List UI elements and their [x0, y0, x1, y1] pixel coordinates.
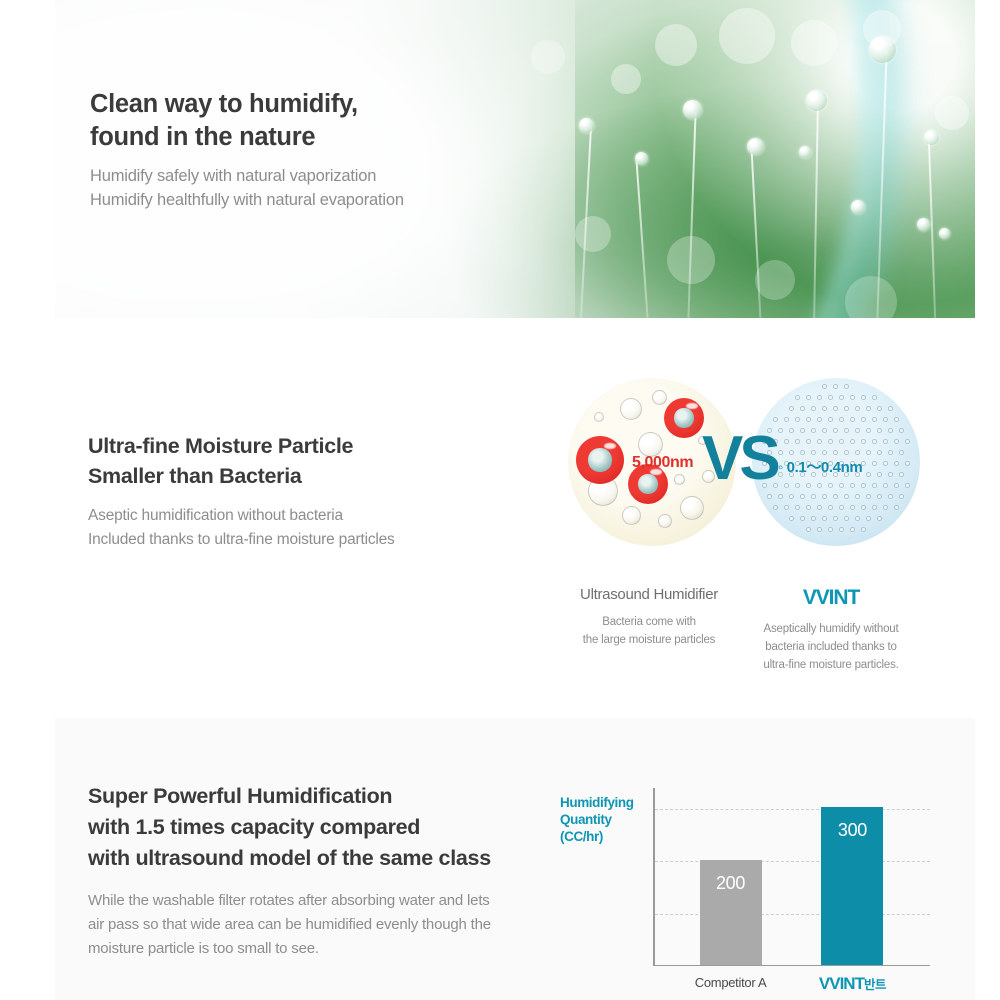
fine-particle-dot [822, 450, 827, 455]
fine-particle-dot [844, 516, 849, 521]
fine-particle-dot [861, 395, 866, 400]
fine-particle-dot [822, 428, 827, 433]
fine-particle-dot [855, 494, 860, 499]
fine-particle-dot [800, 450, 805, 455]
right-caption-body-line-2: bacteria included thanks to [742, 638, 920, 656]
fine-particle-dot [833, 406, 838, 411]
particle-heading: Ultra-fine Moisture Particle Smaller tha… [88, 431, 395, 491]
fine-particle-dot [866, 428, 871, 433]
particle-text-block: Ultra-fine Moisture Particle Smaller tha… [88, 431, 395, 552]
fine-particle-dot [817, 417, 822, 422]
hero-heading-line-1: Clean way to humidify, [90, 88, 404, 121]
fine-particle-dot [828, 527, 833, 532]
hero-text-block: Clean way to humidify, found in the natu… [90, 88, 404, 212]
capacity-body-line-1: While the washable filter rotates after … [88, 889, 491, 913]
fine-particle-dot [833, 384, 838, 389]
fine-particle-dot [872, 483, 877, 488]
chart-gridline [655, 809, 930, 810]
x-tick-competitor-a: Competitor A [661, 974, 801, 992]
y-axis-label-line-2: Quantity [560, 811, 648, 828]
fine-particle-dot [883, 417, 888, 422]
fine-particle-dot [899, 494, 904, 499]
fine-particle-dot [800, 516, 805, 521]
fine-particle-dot [899, 428, 904, 433]
fine-particle-dot [833, 516, 838, 521]
capacity-body-line-2: air pass so that wide area can be humidi… [88, 913, 491, 937]
fine-particle-dot [877, 428, 882, 433]
fine-particle-dot [806, 505, 811, 510]
fine-particle-dot [828, 395, 833, 400]
hero-sub-line-2: Humidify healthfully with natural evapor… [90, 188, 404, 212]
capacity-heading-line-2: with 1.5 times capacity compared [88, 812, 491, 843]
product-feature-page: Clean way to humidify, found in the natu… [0, 0, 1000, 1000]
fine-particle-dot [822, 406, 827, 411]
fine-particle-dot [800, 428, 805, 433]
right-caption-body: Aseptically humidify without bacteria in… [742, 620, 920, 674]
hero-banner: Clean way to humidify, found in the natu… [55, 0, 975, 318]
fine-particle-dot [789, 428, 794, 433]
fine-particle-dot [894, 461, 899, 466]
chart-gridline [655, 914, 930, 915]
vvint-logo: VVINT [742, 586, 920, 610]
fine-particle-dot [795, 439, 800, 444]
fine-particle-dot [877, 406, 882, 411]
capacity-body: While the washable filter rotates after … [88, 889, 491, 961]
fine-particle-dot [850, 395, 855, 400]
hero-sub-line-1: Humidify safely with natural vaporizatio… [90, 164, 404, 188]
fine-particle-dot [839, 417, 844, 422]
fine-particle-dot [806, 483, 811, 488]
fine-particle-dot [806, 417, 811, 422]
fine-particle-dot [888, 494, 893, 499]
left-size-label: 5,000nm [632, 454, 693, 472]
fine-particle-dot [828, 505, 833, 510]
fine-particle-dot [899, 472, 904, 477]
particle-comparison-section: Ultra-fine Moisture Particle Smaller tha… [0, 318, 1000, 718]
fine-particle-dot [872, 417, 877, 422]
particle-body-line-1: Aseptic humidification without bacteria [88, 504, 395, 528]
fine-particle-dot [872, 505, 877, 510]
fine-particle-dot [861, 439, 866, 444]
fine-particle-dot [811, 494, 816, 499]
fine-particle-dot [817, 527, 822, 532]
fine-particle-dot [855, 516, 860, 521]
vs-label: VS [702, 428, 777, 490]
fine-particle-dot [861, 505, 866, 510]
fine-particle-dot [866, 406, 871, 411]
fine-particle-dot [855, 450, 860, 455]
capacity-heading-line-3: with ultrasound model of the same class [88, 843, 491, 874]
hero-heading-line-2: found in the nature [90, 121, 404, 154]
fine-particle-dot [855, 428, 860, 433]
chart-plot-area: 200 300 Competitor A VVINT반트 [653, 788, 930, 966]
chart-x-axis [653, 965, 930, 967]
fine-particle-dot [833, 428, 838, 433]
fine-particle-dot [773, 417, 778, 422]
fine-particle-dot [817, 439, 822, 444]
fine-particle-dot [800, 406, 805, 411]
fine-particle-dot [866, 472, 871, 477]
fine-particle-dot [888, 472, 893, 477]
fine-particle-dot [850, 417, 855, 422]
fine-particle-dot [833, 494, 838, 499]
fine-particle-dot [806, 527, 811, 532]
fine-particle-dot [866, 494, 871, 499]
fine-particle-dot [872, 395, 877, 400]
bacteria-icon [664, 398, 704, 438]
fine-particle-dot [795, 483, 800, 488]
hero-subheading: Humidify safely with natural vaporizatio… [90, 164, 404, 212]
right-caption-body-line-1: Aseptically humidify without [742, 620, 920, 638]
left-caption-body: Bacteria come with the large moisture pa… [560, 613, 738, 649]
fine-particle-dot [861, 417, 866, 422]
fine-particle-dot [828, 417, 833, 422]
fine-particle-dot [877, 516, 882, 521]
bar-value-competitor-a: 200 [700, 873, 762, 894]
fine-particle-dot [795, 417, 800, 422]
fine-particle-dot [877, 472, 882, 477]
bar-vvint: 300 [821, 807, 883, 964]
capacity-heading-line-1: Super Powerful Humidification [88, 781, 491, 812]
fine-particle-dot [844, 494, 849, 499]
fine-particle-dot [850, 439, 855, 444]
fine-particle-dot [806, 395, 811, 400]
fine-particle-dot [850, 483, 855, 488]
fine-particle-dot [872, 461, 877, 466]
fine-particle-dot [883, 483, 888, 488]
fine-particle-dot [894, 483, 899, 488]
bar-competitor-a: 200 [700, 860, 762, 965]
x-tick-vvint: VVINT반트 [782, 974, 922, 994]
fine-particle-dot [839, 527, 844, 532]
capacity-section: Super Powerful Humidification with 1.5 t… [55, 718, 975, 1000]
fine-particle-dot [833, 450, 838, 455]
particle-body: Aseptic humidification without bacteria … [88, 504, 395, 552]
fine-particle-dot [905, 461, 910, 466]
left-caption: Ultrasound Humidifier Bacteria come with… [560, 586, 738, 649]
fine-particle-dot [822, 516, 827, 521]
fine-particle-dot [789, 406, 794, 411]
fine-particle-dot [784, 439, 789, 444]
right-caption: VVINT Aseptically humidify without bacte… [742, 586, 920, 674]
chart-y-axis [653, 788, 655, 966]
right-size-label: ◦ 0.1～0.4nm [778, 456, 862, 477]
fine-particle-dot [877, 494, 882, 499]
fine-particle-dot [883, 461, 888, 466]
fine-particle-dot [789, 494, 794, 499]
fine-particle-dot [894, 417, 899, 422]
fine-particle-dot [844, 384, 849, 389]
fine-particle-dot [806, 439, 811, 444]
capacity-heading: Super Powerful Humidification with 1.5 t… [88, 781, 491, 874]
fine-particle-dot [850, 505, 855, 510]
fine-particle-dot [839, 505, 844, 510]
fine-particle-dot [866, 516, 871, 521]
fine-particle-dot [877, 450, 882, 455]
fine-particle-dot [767, 494, 772, 499]
left-caption-body-line-1: Bacteria come with [560, 613, 738, 631]
fine-particle-dot [844, 428, 849, 433]
bacteria-icon [576, 436, 624, 484]
fine-particle-dot [811, 450, 816, 455]
fine-particle-dot [872, 439, 877, 444]
fine-particle-dot [888, 428, 893, 433]
capacity-text-block: Super Powerful Humidification with 1.5 t… [88, 781, 491, 961]
fine-particle-dot [850, 527, 855, 532]
chart-y-axis-label: Humidifying Quantity (CC/hr) [560, 794, 648, 845]
fine-particle-dot [905, 483, 910, 488]
fine-particle-dot [844, 406, 849, 411]
x-tick-label: Competitor A [695, 975, 767, 990]
fine-particle-dot [773, 505, 778, 510]
fine-particle-dot [800, 494, 805, 499]
fine-particle-dot [844, 450, 849, 455]
particle-body-line-2: Included thanks to ultra-fine moisture p… [88, 528, 395, 552]
fine-particle-dot [828, 483, 833, 488]
fine-particle-dot [795, 395, 800, 400]
fine-particle-dot [888, 450, 893, 455]
fine-particle-dot [861, 483, 866, 488]
fine-particle-dot [839, 439, 844, 444]
left-caption-body-line-2: the large moisture particles [560, 631, 738, 649]
fine-particle-dot [894, 439, 899, 444]
fine-particle-dot [784, 417, 789, 422]
fine-particle-dot [817, 395, 822, 400]
bar-value-vvint: 300 [821, 820, 883, 841]
fine-particle-dot [855, 406, 860, 411]
fine-particle-dot [817, 505, 822, 510]
vs-comparison-graphic: 5,000nm ◦ 0.1～0.4nm VS Ultrasound Humidi… [560, 378, 920, 708]
capacity-body-line-3: moisture particle is too small to see. [88, 937, 491, 961]
fine-particle-dot [778, 494, 783, 499]
right-caption-body-line-3: ultra-fine moisture particles. [742, 656, 920, 674]
fine-particle-dot [905, 439, 910, 444]
fine-particle-dot [778, 428, 783, 433]
y-axis-label-line-1: Humidifying [560, 794, 648, 811]
hero-heading: Clean way to humidify, found in the natu… [90, 88, 404, 154]
chart-gridline [655, 861, 930, 862]
fine-particle-dot [883, 439, 888, 444]
fine-particle-dot [784, 505, 789, 510]
particle-heading-line-2: Smaller than Bacteria [88, 461, 395, 491]
particle-heading-line-1: Ultra-fine Moisture Particle [88, 431, 395, 461]
fine-particle-dot [795, 505, 800, 510]
fine-particle-dot [817, 483, 822, 488]
fine-particle-dot [866, 450, 871, 455]
fine-particle-dot [899, 450, 904, 455]
humidifying-quantity-chart: Humidifying Quantity (CC/hr) 200 300 Com… [560, 788, 930, 988]
fine-particle-dot [778, 450, 783, 455]
fine-particle-dot [784, 483, 789, 488]
left-caption-title: Ultrasound Humidifier [560, 586, 738, 603]
fine-particle-dot [811, 516, 816, 521]
fine-particle-dot [811, 428, 816, 433]
fine-particle-dot [811, 406, 816, 411]
fine-particle-dot [822, 494, 827, 499]
fine-particle-dot [789, 516, 794, 521]
x-tick-label-brand: VVINT반트 [819, 974, 886, 993]
fine-particle-dot [888, 406, 893, 411]
fine-particle-dot [883, 505, 888, 510]
y-axis-label-line-3: (CC/hr) [560, 828, 648, 845]
fine-particle-dot [828, 439, 833, 444]
fine-particle-dot [839, 395, 844, 400]
fine-particle-dot [861, 527, 866, 532]
fine-particle-dot [822, 384, 827, 389]
fine-particle-dot [789, 450, 794, 455]
fine-particle-dot [894, 505, 899, 510]
fine-particle-dot [839, 483, 844, 488]
